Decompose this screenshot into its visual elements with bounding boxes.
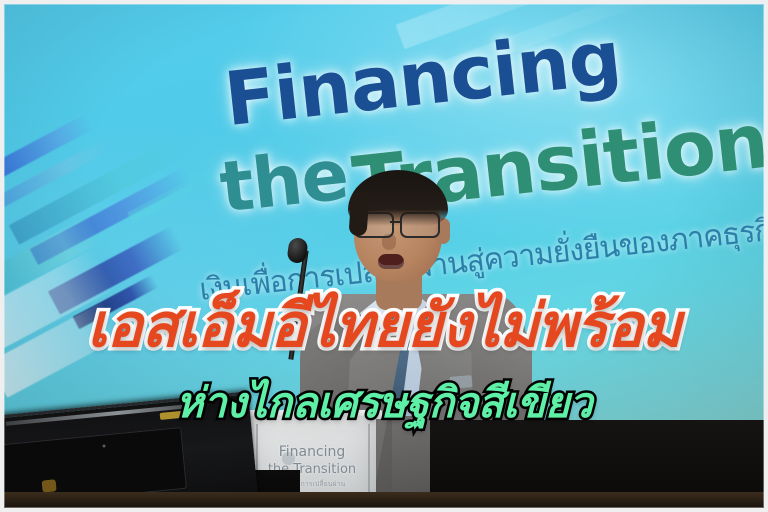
photograph: Financing the Transition เงินเพื่อการเปล…: [0, 0, 768, 512]
monitor-amber-light-icon: [42, 479, 57, 492]
hair: [348, 170, 448, 226]
mouth: [378, 254, 404, 269]
news-thumbnail-image: Financing the Transition เงินเพื่อการเปล…: [0, 0, 768, 512]
monitor-indicator-icon: [160, 411, 183, 420]
stage-floor-band: [0, 492, 768, 512]
pocket-square: [450, 375, 473, 389]
podium-line-1: Financing: [256, 444, 368, 462]
